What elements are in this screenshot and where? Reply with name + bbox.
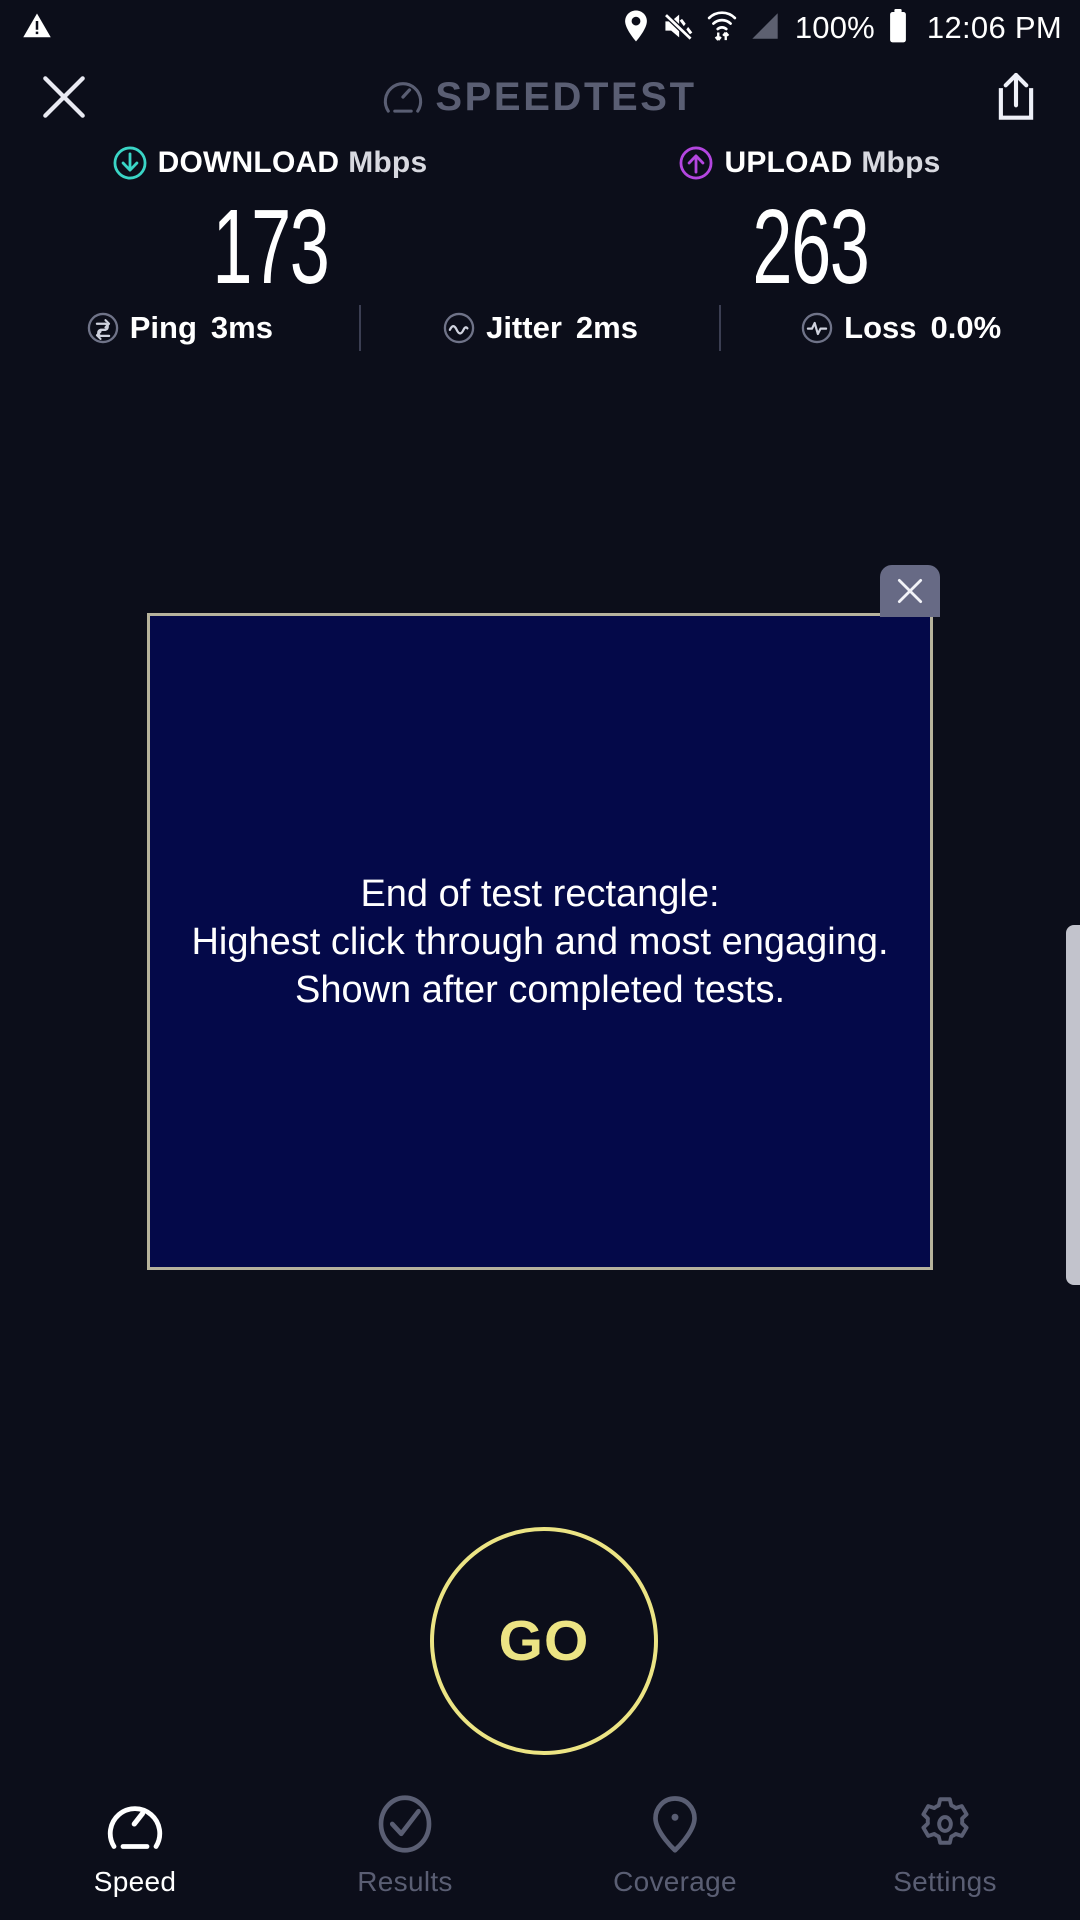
nav-item-speed[interactable]: Speed xyxy=(0,1794,270,1898)
nav-item-settings[interactable]: Settings xyxy=(810,1794,1080,1898)
app-brand: SPEEDTEST xyxy=(102,75,978,120)
status-bar: 100% 12:06 PM xyxy=(0,0,1080,56)
upload-result: UPLOAD Mbps 263 xyxy=(540,142,1080,300)
speed-row: DOWNLOAD Mbps 173 UPLOAD Mbps 263 xyxy=(0,142,1080,300)
metric-jitter-label: Jitter xyxy=(486,310,562,346)
metric-ping-label: Ping xyxy=(130,310,197,346)
check-circle-icon xyxy=(375,1794,435,1854)
metric-loss-label: Loss xyxy=(844,310,916,346)
share-button[interactable] xyxy=(978,59,1054,135)
warning-triangle-icon xyxy=(22,11,52,46)
upload-header: UPLOAD Mbps xyxy=(679,142,940,184)
location-pin-icon xyxy=(645,1794,705,1854)
nav-label-coverage: Coverage xyxy=(613,1866,737,1898)
download-result: DOWNLOAD Mbps 173 xyxy=(0,142,540,300)
cell-signal-icon xyxy=(750,11,780,46)
metric-ping-value: 3ms xyxy=(211,310,273,346)
status-bar-right: 100% 12:06 PM xyxy=(623,9,1062,48)
speedometer-icon xyxy=(383,77,423,117)
download-label: DOWNLOAD xyxy=(158,146,340,180)
download-header: DOWNLOAD Mbps xyxy=(113,142,428,184)
download-arrow-icon xyxy=(113,146,147,180)
metric-ping: Ping 3ms xyxy=(0,300,359,356)
gear-icon xyxy=(915,1794,975,1854)
close-button[interactable] xyxy=(26,59,102,135)
mute-icon xyxy=(662,10,694,47)
go-button[interactable]: GO xyxy=(430,1527,658,1755)
jitter-icon xyxy=(442,311,476,345)
upload-label: UPLOAD xyxy=(724,146,852,180)
metric-loss-value: 0.0% xyxy=(931,310,1002,346)
download-value: 173 xyxy=(212,194,328,300)
go-button-label: GO xyxy=(499,1608,590,1674)
ad-close-button[interactable] xyxy=(880,565,940,617)
ad-text: End of test rectangle: Highest click thr… xyxy=(171,870,908,1014)
metric-jitter: Jitter 2ms xyxy=(361,300,720,356)
upload-unit: Mbps xyxy=(861,146,940,180)
app-header: SPEEDTEST xyxy=(0,56,1080,138)
download-unit: Mbps xyxy=(348,146,427,180)
close-icon xyxy=(894,575,926,607)
loss-icon xyxy=(800,311,834,345)
battery-full-icon xyxy=(888,9,908,48)
upload-arrow-icon xyxy=(679,146,713,180)
app-title: SPEEDTEST xyxy=(435,75,696,120)
status-bar-left xyxy=(22,11,52,46)
result-panel: DOWNLOAD Mbps 173 UPLOAD Mbps 263 xyxy=(0,142,1080,300)
nav-item-coverage[interactable]: Coverage xyxy=(540,1794,810,1898)
advertisement-banner[interactable]: End of test rectangle: Highest click thr… xyxy=(147,613,933,1270)
nav-label-settings: Settings xyxy=(893,1866,997,1898)
metrics-row: Ping 3ms Jitter 2ms Loss 0.0% xyxy=(0,300,1080,356)
close-icon xyxy=(40,73,88,121)
battery-percent-label: 100% xyxy=(795,10,875,46)
nav-item-results[interactable]: Results xyxy=(270,1794,540,1898)
status-bar-clock: 12:06 PM xyxy=(927,10,1062,46)
ping-icon xyxy=(86,311,120,345)
page-scrollbar[interactable] xyxy=(1066,925,1080,1285)
location-pin-icon xyxy=(623,10,649,47)
nav-label-results: Results xyxy=(357,1866,452,1898)
upload-value: 263 xyxy=(752,194,868,300)
speedometer-icon xyxy=(105,1794,165,1854)
share-icon xyxy=(994,72,1038,122)
nav-label-speed: Speed xyxy=(94,1866,176,1898)
metric-loss: Loss 0.0% xyxy=(721,300,1080,356)
bottom-navigation: Speed Results Coverage Settings xyxy=(0,1782,1080,1920)
metric-jitter-value: 2ms xyxy=(576,310,638,346)
wifi-transfer-icon xyxy=(707,9,737,47)
